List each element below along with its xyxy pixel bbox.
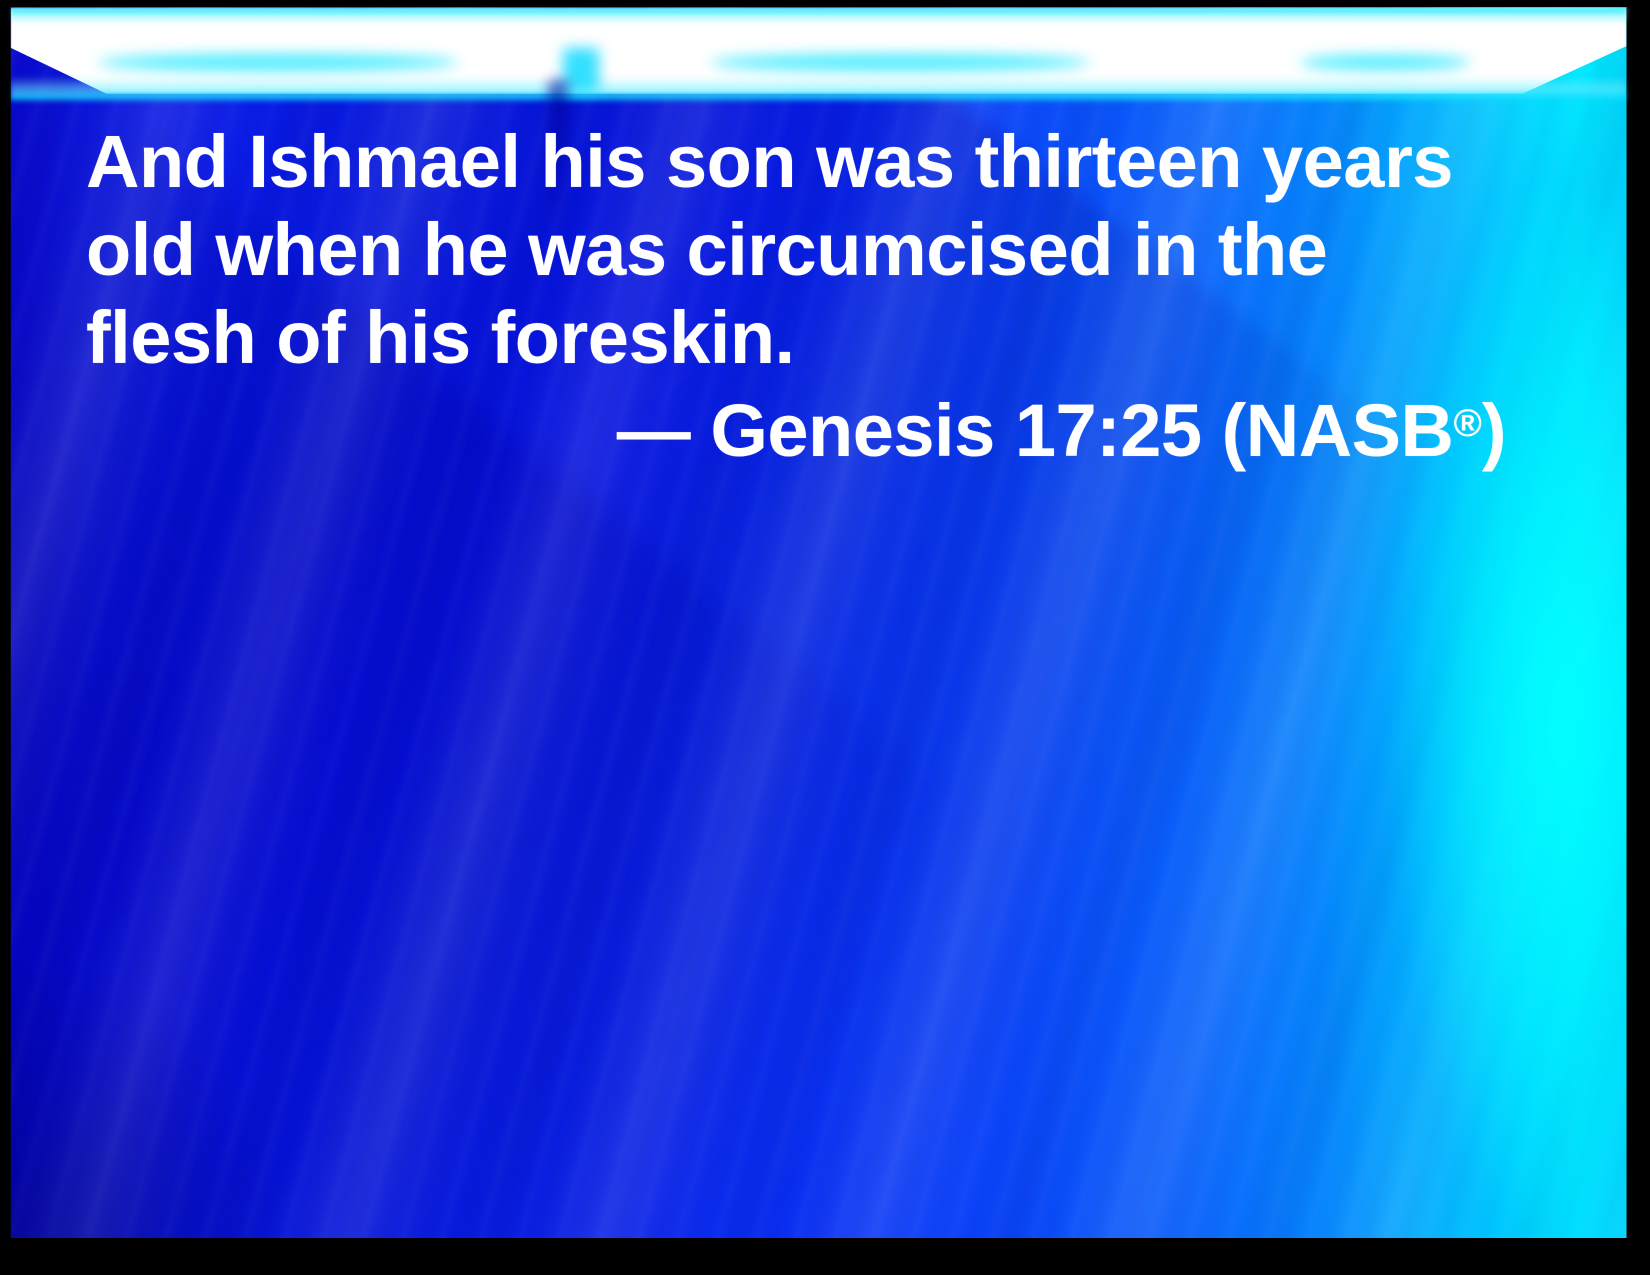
attribution-main: — Genesis 17:25 (NASB bbox=[617, 389, 1454, 472]
banner-cyan-bottom-edge bbox=[10, 76, 1627, 100]
frame-border-bottom bbox=[0, 1239, 1650, 1275]
registered-trademark-icon: ® bbox=[1453, 402, 1481, 445]
banner-cyan-wisp bbox=[1300, 55, 1470, 70]
attribution-close-paren: ) bbox=[1482, 389, 1506, 472]
banner-cyan-notch bbox=[563, 48, 599, 92]
frame-border-right bbox=[1626, 0, 1650, 1275]
verse-attribution: — Genesis 17:25 (NASB®) bbox=[86, 382, 1506, 473]
background-corner-shade bbox=[10, 808, 430, 1238]
top-banner bbox=[10, 8, 1627, 94]
banner-cyan-top-edge bbox=[10, 8, 1627, 24]
banner-cyan-wisp bbox=[98, 54, 458, 71]
verse-text: And Ishmael his son was thirteen years o… bbox=[86, 118, 1506, 382]
banner-cyan-wisp bbox=[710, 54, 1090, 71]
verse-slide: And Ishmael his son was thirteen years o… bbox=[0, 0, 1650, 1275]
